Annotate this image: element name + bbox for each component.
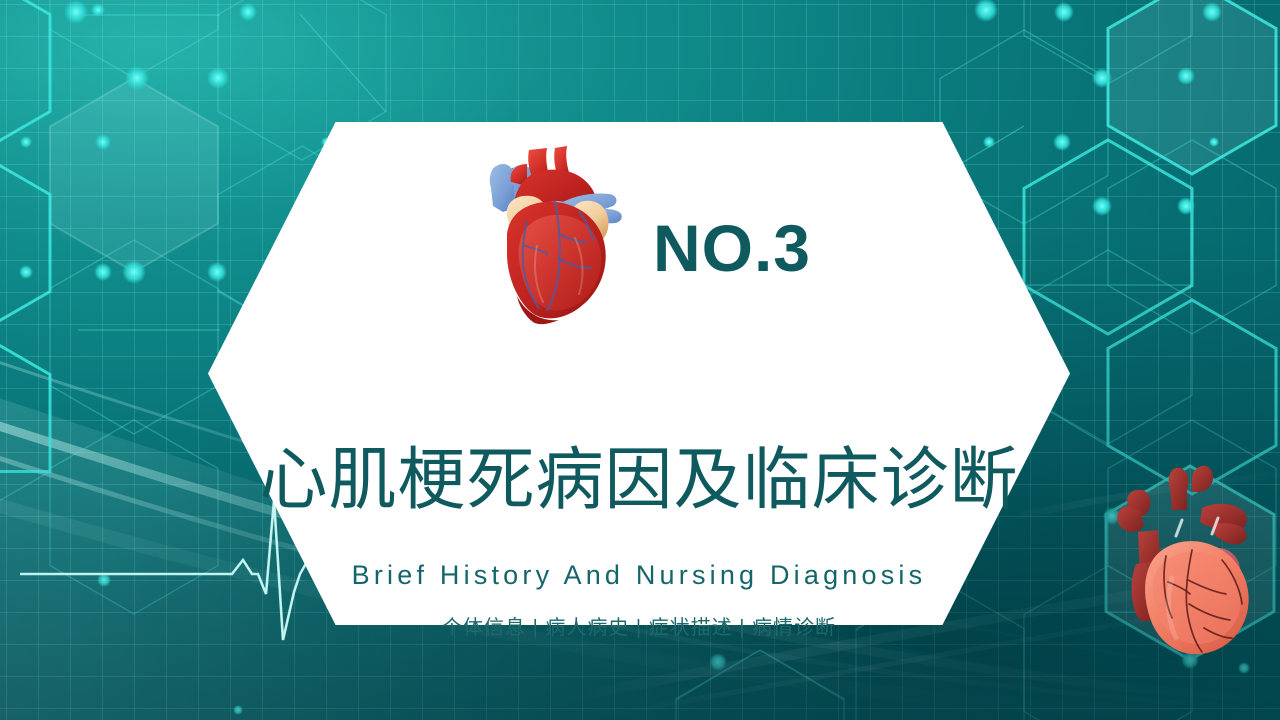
slide-canvas: NO.3 心肌梗死病因及临床诊断 Brief History And Nursi… <box>0 0 1280 720</box>
subtitle-english: Brief History And Nursing Diagnosis <box>208 562 1070 589</box>
page-title: 心肌梗死病因及临床诊断 <box>208 446 1070 514</box>
keyword-list: 个体信息 | 病人病史 | 症状描述 | 病情诊断 <box>208 618 1070 638</box>
section-number: NO.3 <box>653 215 811 281</box>
hexagon-card-content: NO.3 心肌梗死病因及临床诊断 Brief History And Nursi… <box>208 122 1070 625</box>
heart-corner-icon <box>1096 452 1280 668</box>
heart-anatomical-icon <box>467 142 635 328</box>
section-title-row: NO.3 <box>208 140 1070 330</box>
